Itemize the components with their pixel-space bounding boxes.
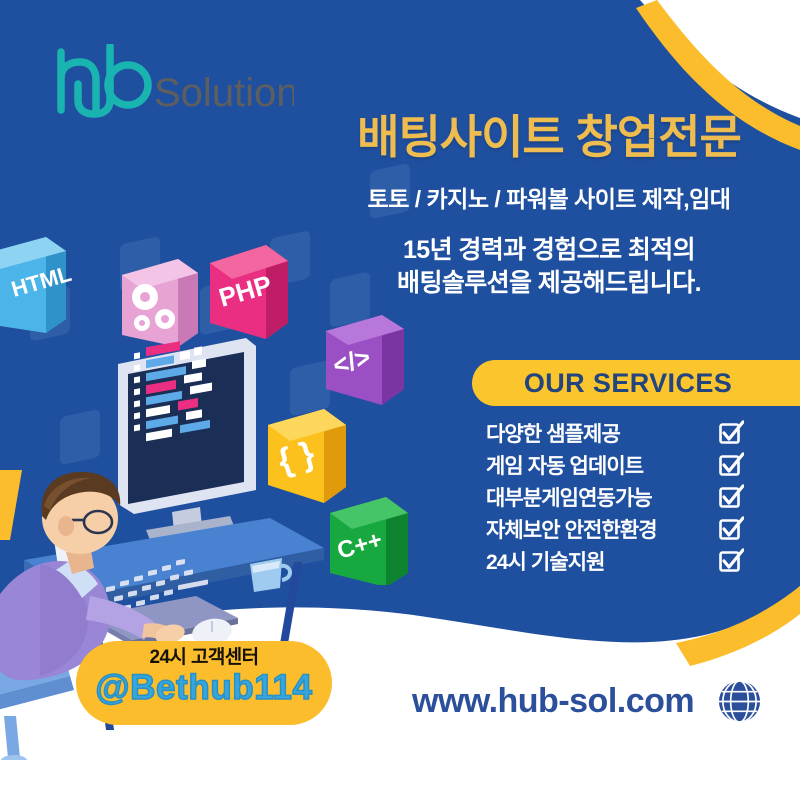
- service-label: 대부분게임연동가능: [486, 482, 652, 512]
- contact-badge[interactable]: 24시 고객센터 @Bethub114: [76, 641, 332, 725]
- checkbox-checked-icon: [718, 420, 744, 446]
- globe-icon: [716, 678, 763, 725]
- service-label: 24시 기술지원: [486, 546, 605, 576]
- services-banner-title: OUR SERVICES: [524, 368, 732, 399]
- checkbox-checked-icon: [718, 548, 744, 574]
- list-item[interactable]: 게임 자동 업데이트: [486, 450, 744, 480]
- brand-logo[interactable]: Solution: [44, 44, 294, 118]
- website-footer[interactable]: www.hub-sol.com: [412, 678, 763, 725]
- checkbox-checked-icon: [718, 452, 744, 478]
- monitor: [118, 338, 256, 540]
- service-label: 게임 자동 업데이트: [486, 450, 643, 480]
- list-item[interactable]: 다양한 샘플제공: [486, 418, 744, 448]
- list-item[interactable]: 24시 기술지원: [486, 546, 744, 576]
- logo-graphic: Solution: [44, 44, 294, 118]
- list-item[interactable]: 자체보안 안전한환경: [486, 514, 744, 544]
- hero-subheadline: 토토 / 카지노 / 파워볼 사이트 제작,임대: [310, 180, 788, 214]
- website-url: www.hub-sol.com: [412, 682, 694, 721]
- services-list: 다양한 샘플제공 게임 자동 업데이트 대부분게임연동가능 자체보안 안전한환경: [486, 418, 744, 578]
- page-title: 배팅사이트 창업전문: [310, 112, 788, 164]
- contact-title: 24시 고객센터: [76, 648, 332, 667]
- contact-handle: @Bethub114: [76, 670, 332, 707]
- services-banner: OUR SERVICES: [472, 360, 800, 406]
- service-label: 자체보안 안전한환경: [486, 514, 657, 544]
- service-label: 다양한 샘플제공: [486, 418, 620, 448]
- list-item[interactable]: 대부분게임연동가능: [486, 482, 744, 512]
- html-cube: HTML: [0, 237, 74, 333]
- logo-wordmark: Solution: [154, 71, 294, 115]
- promotional-banner: Solution 배팅사이트 창업전문 토토 / 카지노 / 파워볼 사이트 제…: [0, 0, 800, 800]
- checkbox-checked-icon: [718, 484, 744, 510]
- php-cube: PHP: [210, 245, 288, 339]
- checkbox-checked-icon: [718, 516, 744, 542]
